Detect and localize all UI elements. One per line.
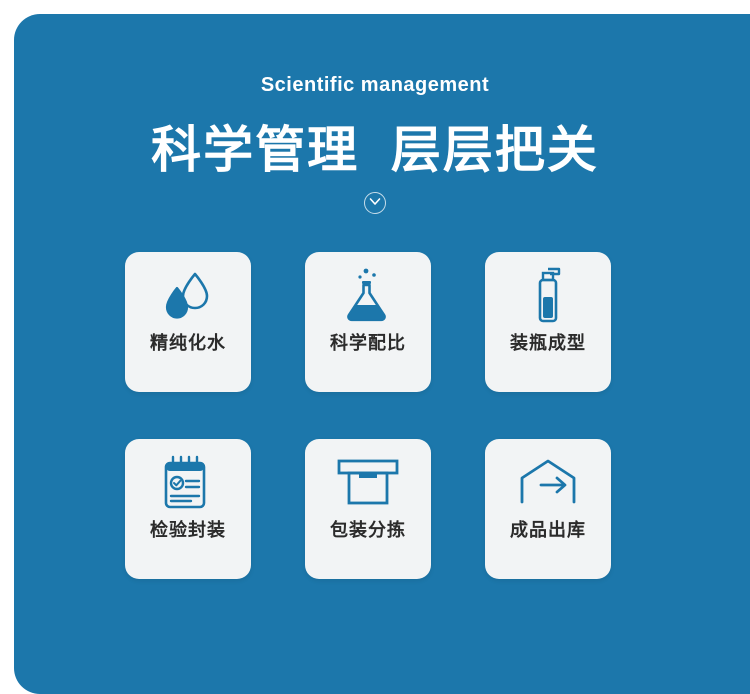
page-title: 科学管理 层层把关 [14, 110, 736, 182]
section-eyebrow: Scientific management [14, 74, 736, 97]
process-card-packing[interactable]: 包装分拣 [305, 439, 431, 579]
flask-icon [343, 252, 393, 338]
spray-bottle-icon [526, 252, 570, 338]
process-card-grid: 精纯化水 科学配比 [125, 252, 625, 579]
process-card-label: 精纯化水 [150, 334, 226, 352]
process-card-bottling[interactable]: 装瓶成型 [485, 252, 611, 392]
process-card-label: 装瓶成型 [510, 334, 586, 352]
clipboard-check-icon [162, 439, 214, 525]
process-card-label: 科学配比 [330, 334, 406, 352]
process-card-formula[interactable]: 科学配比 [305, 252, 431, 392]
process-card-shipping[interactable]: 成品出库 [485, 439, 611, 579]
process-card-label: 包装分拣 [330, 521, 406, 539]
main-panel: Scientific management 科学管理 层层把关 精纯化水 [14, 14, 750, 694]
chevron-down-icon [364, 192, 386, 214]
warehouse-arrow-icon [517, 439, 579, 525]
process-card-label: 成品出库 [510, 521, 586, 539]
carton-box-icon [337, 439, 399, 525]
water-drops-icon [162, 252, 214, 338]
process-card-label: 检验封装 [150, 521, 226, 539]
process-card-water[interactable]: 精纯化水 [125, 252, 251, 392]
process-card-inspection[interactable]: 检验封装 [125, 439, 251, 579]
